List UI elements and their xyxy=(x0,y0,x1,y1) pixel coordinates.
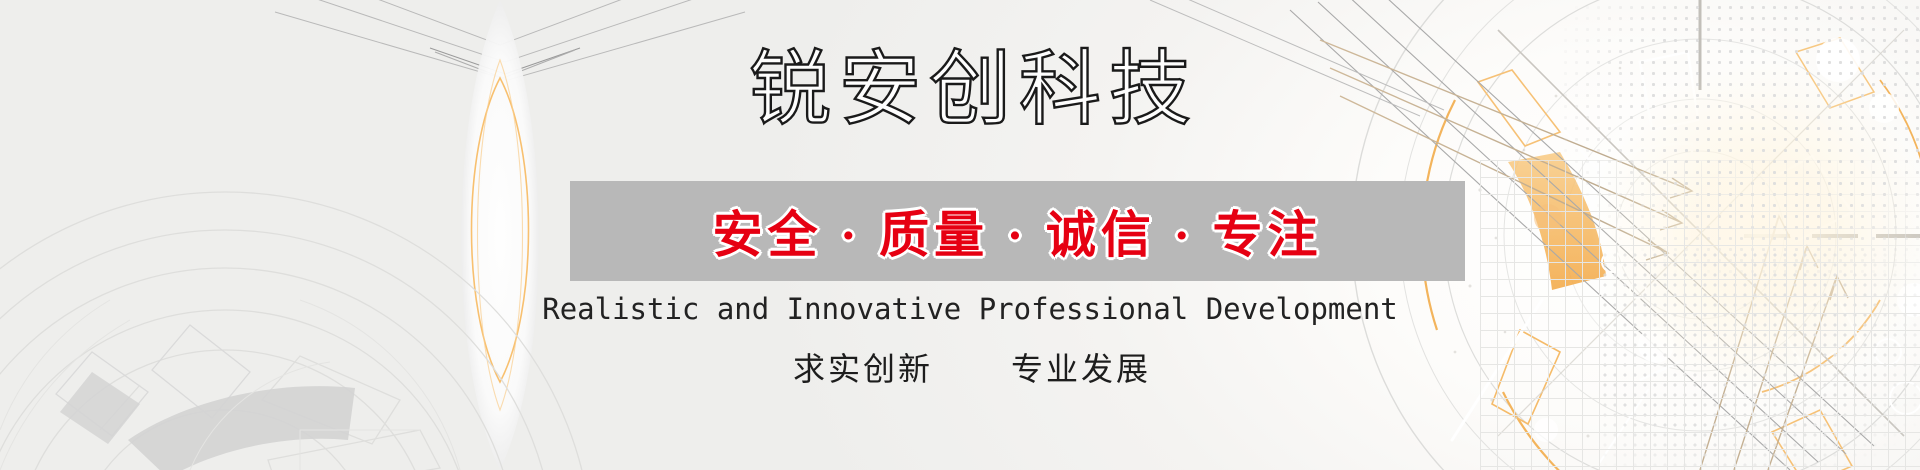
company-banner: 锐安创科技 安全 · 质量 · 诚信 · 专注 Realistic and In… xyxy=(0,0,1920,470)
chinese-taglines: 求实创新 专业发展 xyxy=(0,344,1920,390)
tagline-first: 求实创新 xyxy=(793,344,933,390)
banner-content: 锐安创科技 安全 · 质量 · 诚信 · 专注 Realistic and In… xyxy=(0,0,1920,470)
tagline-second: 专业发展 xyxy=(1011,344,1151,390)
company-title: 锐安创科技 xyxy=(0,42,1920,138)
slogan-text: 安全 · 质量 · 诚信 · 专注 xyxy=(570,181,1465,281)
english-subtitle: Realistic and Innovative Professional De… xyxy=(0,292,1920,326)
